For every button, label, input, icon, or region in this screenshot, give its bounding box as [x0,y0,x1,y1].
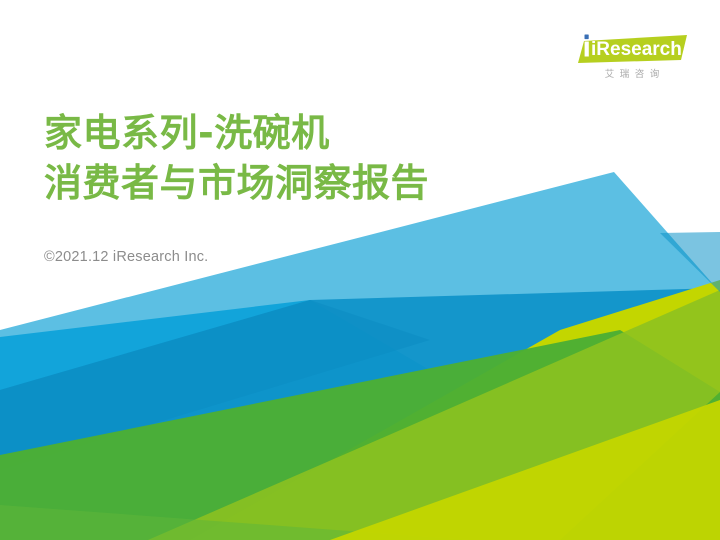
iresearch-wordmark-mark: iResearch [576,33,688,65]
page-title: 家电系列-洗碗机 消费者与市场洞察报告 [44,108,604,208]
iresearch-logo: iResearch 艾瑞咨询 [576,33,688,89]
logo-i-stem [585,42,589,57]
copyright-notice: ©2021.12 iResearch Inc. [44,249,208,265]
iresearch-wordmark-svg: iResearch [576,33,688,65]
logo-wordmark-text: iResearch [591,39,682,60]
logo-i-dot-icon [585,35,589,40]
title-line-1: 家电系列-洗碗机 [44,108,604,158]
report-cover-slide: iResearch 艾瑞咨询 家电系列-洗碗机 消费者与市场洞察报告 ©2021… [0,0,720,540]
title-line-2: 消费者与市场洞察报告 [44,158,604,208]
logo-subtitle-chinese: 艾瑞咨询 [576,69,688,81]
